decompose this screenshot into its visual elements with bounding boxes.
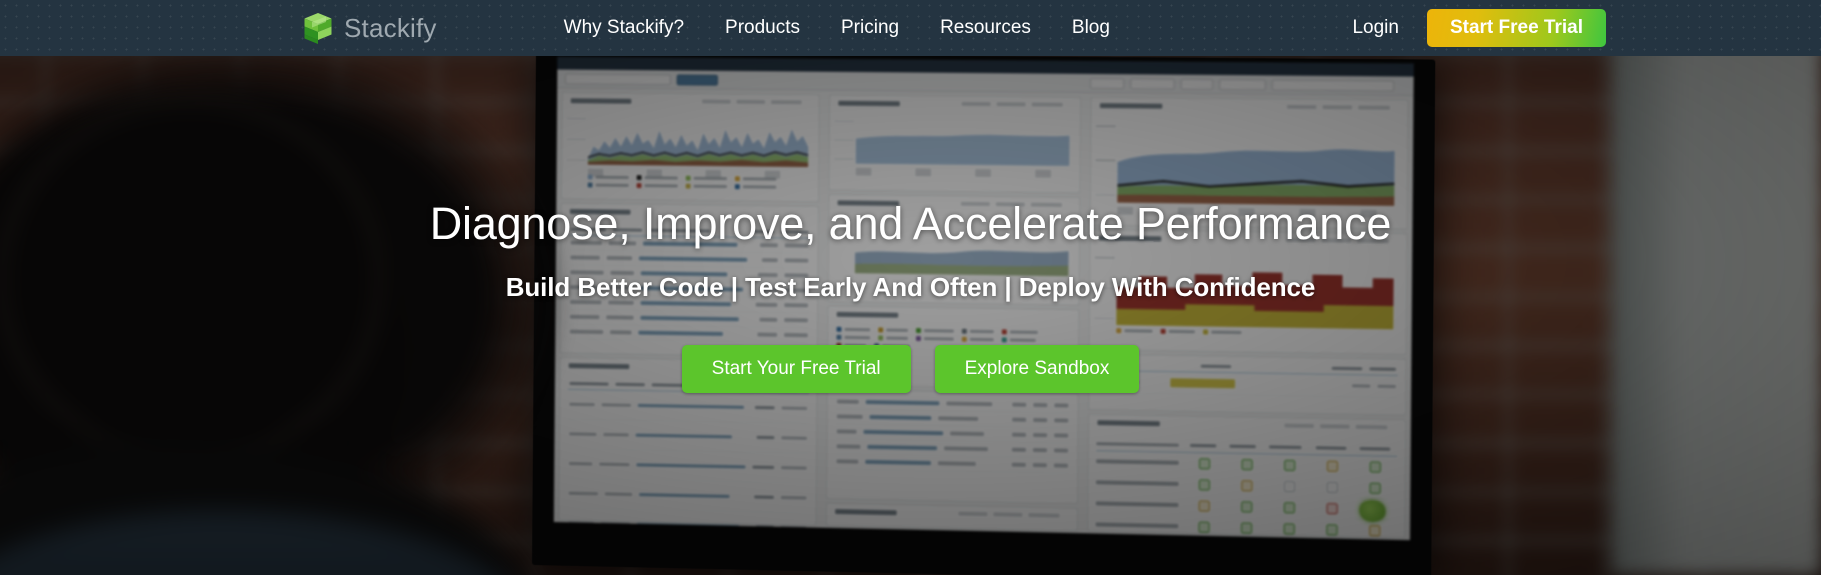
silhouette-hair-highlight [0,100,380,460]
hero-background-photo [0,0,1821,575]
person-silhouette [0,40,620,575]
brand-logo-link[interactable]: Stackify [303,12,437,45]
page-root: Diagnose, Improve, and Accelerate Perfor… [0,0,1821,575]
explore-sandbox-button[interactable]: Explore Sandbox [935,345,1140,393]
nav-item-pricing[interactable]: Pricing [841,17,899,39]
nav-item-resources[interactable]: Resources [940,17,1031,39]
start-free-trial-header-button[interactable]: Start Free Trial [1427,9,1606,47]
hero-cta-row: Start Your Free Trial Explore Sandbox [682,345,1140,393]
start-free-trial-button[interactable]: Start Your Free Trial [682,345,911,393]
brand-name: Stackify [344,13,437,44]
stackify-logo-icon [303,12,333,45]
nav-item-why-stackify[interactable]: Why Stackify? [564,17,684,39]
site-header: Stackify Why Stackify? Products Pricing … [0,0,1821,56]
nav-item-blog[interactable]: Blog [1072,17,1110,39]
header-actions: Login Start Free Trial [1352,9,1606,47]
primary-nav: Why Stackify? Products Pricing Resources… [564,17,1110,39]
nav-item-products[interactable]: Products [725,17,800,39]
login-link[interactable]: Login [1352,17,1399,39]
